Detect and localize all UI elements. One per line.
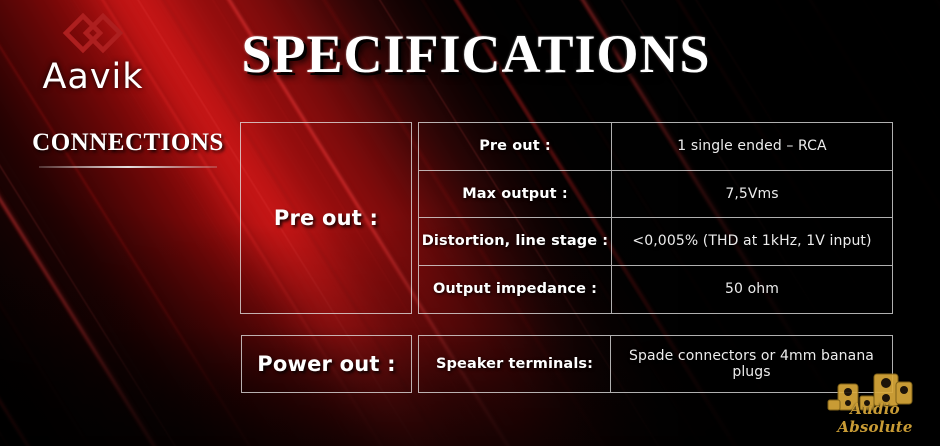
brand-logo: Aavik [18, 12, 168, 95]
table-row: <0,005% (THD at 1kHz, 1V input) [612, 218, 893, 266]
brand-wordmark: Aavik [18, 60, 168, 95]
section-heading: CONNECTIONS [22, 130, 234, 168]
row-label: Distortion, line stage : [422, 233, 608, 249]
table-row: Output impedance : [418, 266, 612, 314]
row-value: 1 single ended – RCA [671, 138, 832, 154]
row-label: Speaker terminals: [436, 356, 593, 372]
table-category-cell: Pre out : [240, 122, 412, 314]
table-value-column: Spade connectors or 4mm banana plugs [611, 335, 893, 393]
row-value: 50 ohm [719, 281, 785, 297]
table-power-out: Power out : Speaker terminals: Spade con… [241, 335, 893, 393]
section-heading-label: CONNECTIONS [22, 130, 234, 156]
table-row: 1 single ended – RCA [612, 122, 893, 171]
table-row: Max output : [418, 171, 612, 218]
table-row: Speaker terminals: [418, 335, 611, 393]
table-category-label: Power out : [257, 352, 395, 376]
section-heading-divider [39, 166, 217, 168]
row-label: Output impedance : [433, 281, 597, 297]
specifications-slide: Aavik SPECIFICATIONS CONNECTIONS Pre out… [0, 0, 940, 446]
table-pre-out: Pre out : Pre out : Max output : Distort… [240, 122, 893, 314]
table-row: 7,5Vms [612, 171, 893, 218]
watermark-text: Audio Absolute [816, 400, 934, 436]
table-row: Distortion, line stage : [418, 218, 612, 266]
interlocking-diamonds-icon [61, 12, 125, 56]
table-row: Pre out : [418, 122, 612, 171]
table-value-column: 1 single ended – RCA 7,5Vms <0,005% (THD… [612, 122, 893, 314]
table-row: 50 ohm [612, 266, 893, 314]
row-value: <0,005% (THD at 1kHz, 1V input) [626, 233, 877, 249]
table-label-column: Speaker terminals: [418, 335, 611, 393]
row-label: Max output : [462, 186, 568, 202]
table-row: Spade connectors or 4mm banana plugs [611, 335, 893, 393]
table-category-cell: Power out : [241, 335, 412, 393]
table-category-label: Pre out : [274, 206, 378, 230]
row-value: 7,5Vms [719, 186, 784, 202]
table-label-column: Pre out : Max output : Distortion, line … [418, 122, 612, 314]
page-title: SPECIFICATIONS [236, 27, 716, 81]
row-label: Pre out : [479, 138, 551, 154]
row-value: Spade connectors or 4mm banana plugs [611, 348, 892, 380]
